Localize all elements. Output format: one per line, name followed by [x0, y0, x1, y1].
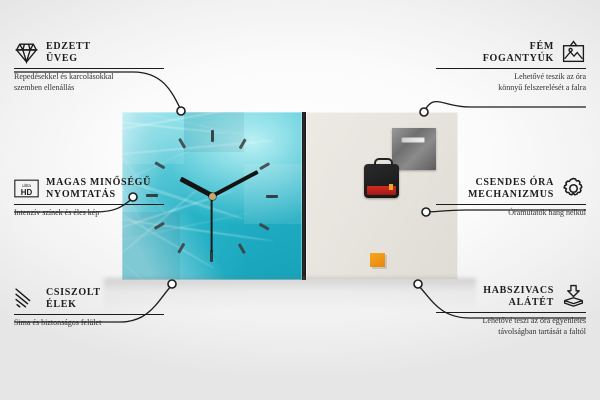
feature-desc: Lehetővé teszi az óra egyenletes távolsá…: [436, 316, 586, 337]
feature-high-quality-print[interactable]: ultra HD MAGAS MINŐSÉGŰ NYOMTATÁS Intenz…: [14, 176, 164, 219]
foam-pad: [370, 253, 385, 267]
ultra-hd-icon: ultra HD: [14, 176, 39, 201]
divider: [436, 204, 586, 205]
divider: [14, 314, 164, 315]
feature-metal-handles[interactable]: FÉM FOGANTYÚK Lehetővé teszik az óra kön…: [436, 40, 586, 93]
feature-title: EDZETT ÜVEG: [46, 41, 91, 65]
divider: [436, 312, 586, 313]
feature-polished-edges[interactable]: CSISZOLT ÉLEK Sima és biztonságos felüle…: [14, 286, 164, 329]
feature-desc: Repedésekkel és karcolásokkal szemben el…: [14, 72, 164, 93]
feature-desc: Intenzív színek és éles kép: [14, 208, 164, 219]
feature-tempered-glass[interactable]: EDZETT ÜVEG Repedésekkel és karcolásokka…: [14, 40, 164, 93]
svg-text:HD: HD: [21, 188, 33, 197]
diamond-icon: [14, 40, 39, 65]
feature-desc: Óramutatók hang nélkül: [436, 208, 586, 219]
infographic-stage: EDZETT ÜVEG Repedésekkel és karcolásokka…: [0, 0, 600, 400]
battery: [367, 186, 396, 195]
feature-title: HABSZIVACS ALÁTÉT: [483, 285, 554, 309]
feature-title: MAGAS MINŐSÉGŰ NYOMTATÁS: [46, 177, 151, 201]
picture-hanger-icon: [561, 40, 586, 65]
product-image: [122, 112, 458, 280]
clock-second-hand: [211, 196, 213, 252]
gear-icon: [561, 176, 586, 201]
polished-edges-icon: [14, 286, 39, 311]
press-pad-icon: [561, 284, 586, 309]
clock-center-cap: [209, 193, 216, 200]
clock-mechanism: [364, 164, 399, 198]
divider: [14, 204, 164, 205]
feature-title: CSENDES ÓRA MECHANIZMUS: [468, 177, 554, 201]
feature-title: FÉM FOGANTYÚK: [483, 41, 554, 65]
feature-desc: Lehetővé teszik az óra könnyű felszerelé…: [436, 72, 586, 93]
metal-hanger-plate: [392, 128, 436, 170]
divider: [436, 68, 586, 69]
feature-foam-pad[interactable]: HABSZIVACS ALÁTÉT Lehetővé teszi az óra …: [436, 284, 586, 337]
feature-desc: Sima és biztonságos felület: [14, 318, 164, 329]
feature-silent-mechanism[interactable]: CSENDES ÓRA MECHANIZMUS Óramutatók hang …: [436, 176, 586, 219]
feature-title: CSISZOLT ÉLEK: [46, 287, 101, 311]
divider: [14, 68, 164, 69]
